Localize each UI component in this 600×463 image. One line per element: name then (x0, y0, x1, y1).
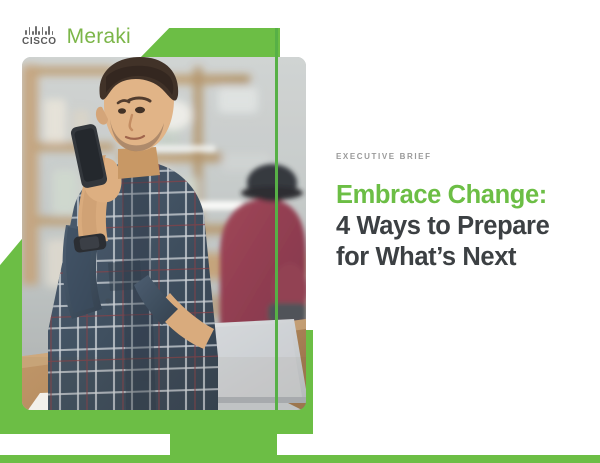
meraki-wordmark: Meraki (67, 26, 131, 48)
eyebrow-label: EXECUTIVE BRIEF (336, 152, 580, 162)
page-title: Embrace Change: 4 Ways to Prepare for Wh… (336, 180, 580, 273)
green-bottom-band-accent (0, 406, 306, 434)
title-block: EXECUTIVE BRIEF Embrace Change: 4 Ways t… (336, 152, 580, 273)
executive-brief-cover: CISCO Meraki (0, 0, 600, 463)
cisco-meraki-logo: CISCO Meraki (22, 18, 131, 48)
green-vertical-rule-accent (275, 28, 278, 410)
headline-line-3: for What’s Next (336, 242, 580, 273)
headline-accent-line: Embrace Change: (336, 180, 580, 211)
green-bottom-strip-accent (0, 455, 600, 463)
cover-photo-illustration (22, 57, 306, 410)
cisco-wordmark: CISCO (22, 36, 57, 48)
cisco-logo: CISCO (22, 24, 57, 48)
green-parallelogram-accent (138, 28, 280, 60)
cover-photo (22, 57, 306, 410)
cisco-bars-icon (25, 24, 53, 35)
headline-line-2: 4 Ways to Prepare (336, 211, 580, 242)
